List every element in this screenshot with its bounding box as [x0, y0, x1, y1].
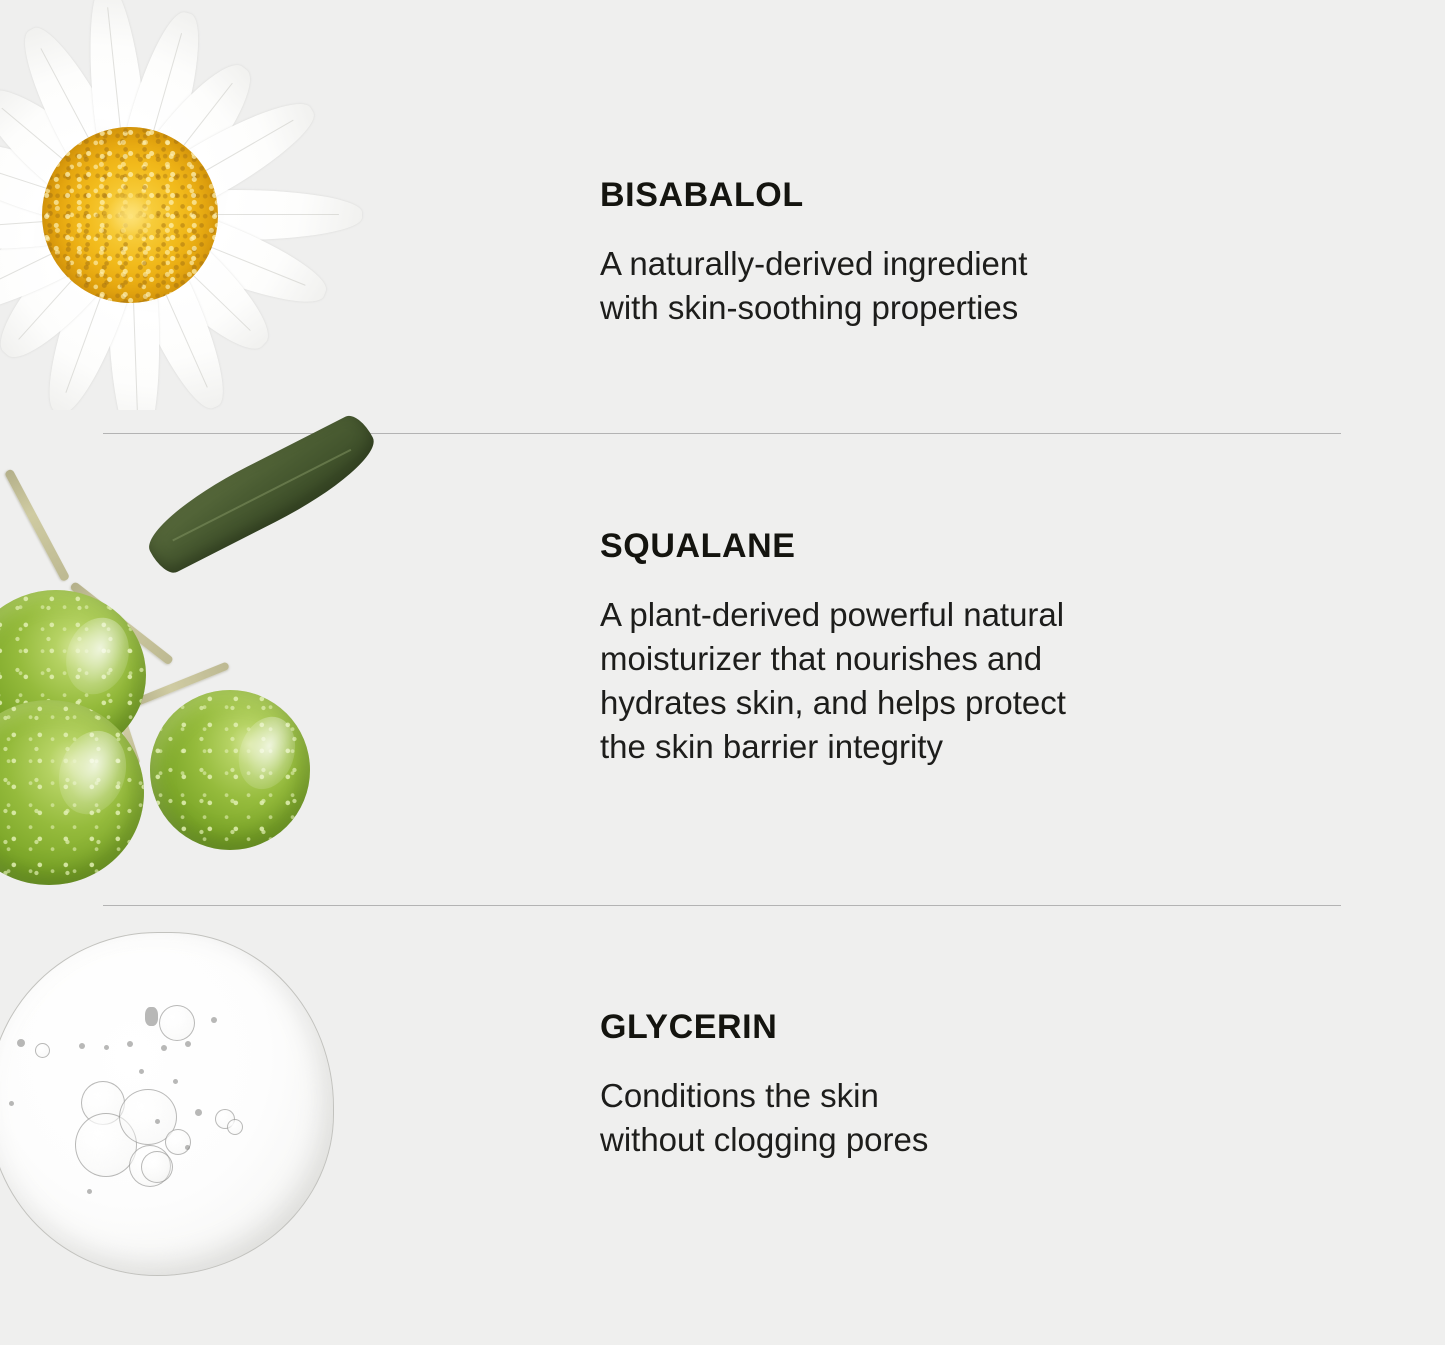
- glycerin-text-block: GLYCERIN Conditions the skin without clo…: [600, 1010, 928, 1162]
- gel-droplet-graphic: [0, 932, 334, 1276]
- gel-dot: [127, 1041, 133, 1047]
- gel-dot: [139, 1069, 144, 1074]
- gel-dot: [145, 1007, 158, 1026]
- gel-dot: [79, 1043, 85, 1049]
- ingredient-section-glycerin: GLYCERIN Conditions the skin without clo…: [0, 906, 1445, 1345]
- gel-dot: [185, 1041, 191, 1047]
- gel-dot: [185, 1145, 190, 1150]
- gel-dot: [195, 1109, 202, 1116]
- ingredient-description-squalane: A plant-derived powerful natural moistur…: [600, 593, 1066, 769]
- gel-bubble: [165, 1129, 191, 1155]
- gel-bubble: [227, 1119, 243, 1135]
- gel-bubble: [159, 1005, 195, 1041]
- gel-bubble: [35, 1043, 50, 1058]
- ingredient-benefits-infographic: BISABALOL A naturally-derived ingredient…: [0, 0, 1445, 1345]
- bisabalol-text-block: BISABALOL A naturally-derived ingredient…: [600, 178, 1027, 330]
- gel-dot: [17, 1039, 25, 1047]
- gel-dot: [155, 1119, 160, 1124]
- gel-dot: [87, 1189, 92, 1194]
- clear-gel-droplet-image: [0, 0, 400, 1345]
- gel-dot: [211, 1017, 217, 1023]
- gel-dot: [9, 1101, 14, 1106]
- ingredient-description-bisabalol: A naturally-derived ingredient with skin…: [600, 242, 1027, 330]
- ingredient-title-glycerin: GLYCERIN: [600, 1010, 928, 1044]
- ingredient-description-glycerin: Conditions the skin without clogging por…: [600, 1074, 928, 1162]
- ingredient-title-bisabalol: BISABALOL: [600, 178, 1027, 212]
- ingredient-title-squalane: SQUALANE: [600, 529, 1066, 563]
- gel-dot: [104, 1045, 109, 1050]
- gel-dot: [161, 1045, 167, 1051]
- squalane-text-block: SQUALANE A plant-derived powerful natura…: [600, 529, 1066, 769]
- gel-bubble: [141, 1151, 173, 1183]
- gel-dot: [173, 1079, 178, 1084]
